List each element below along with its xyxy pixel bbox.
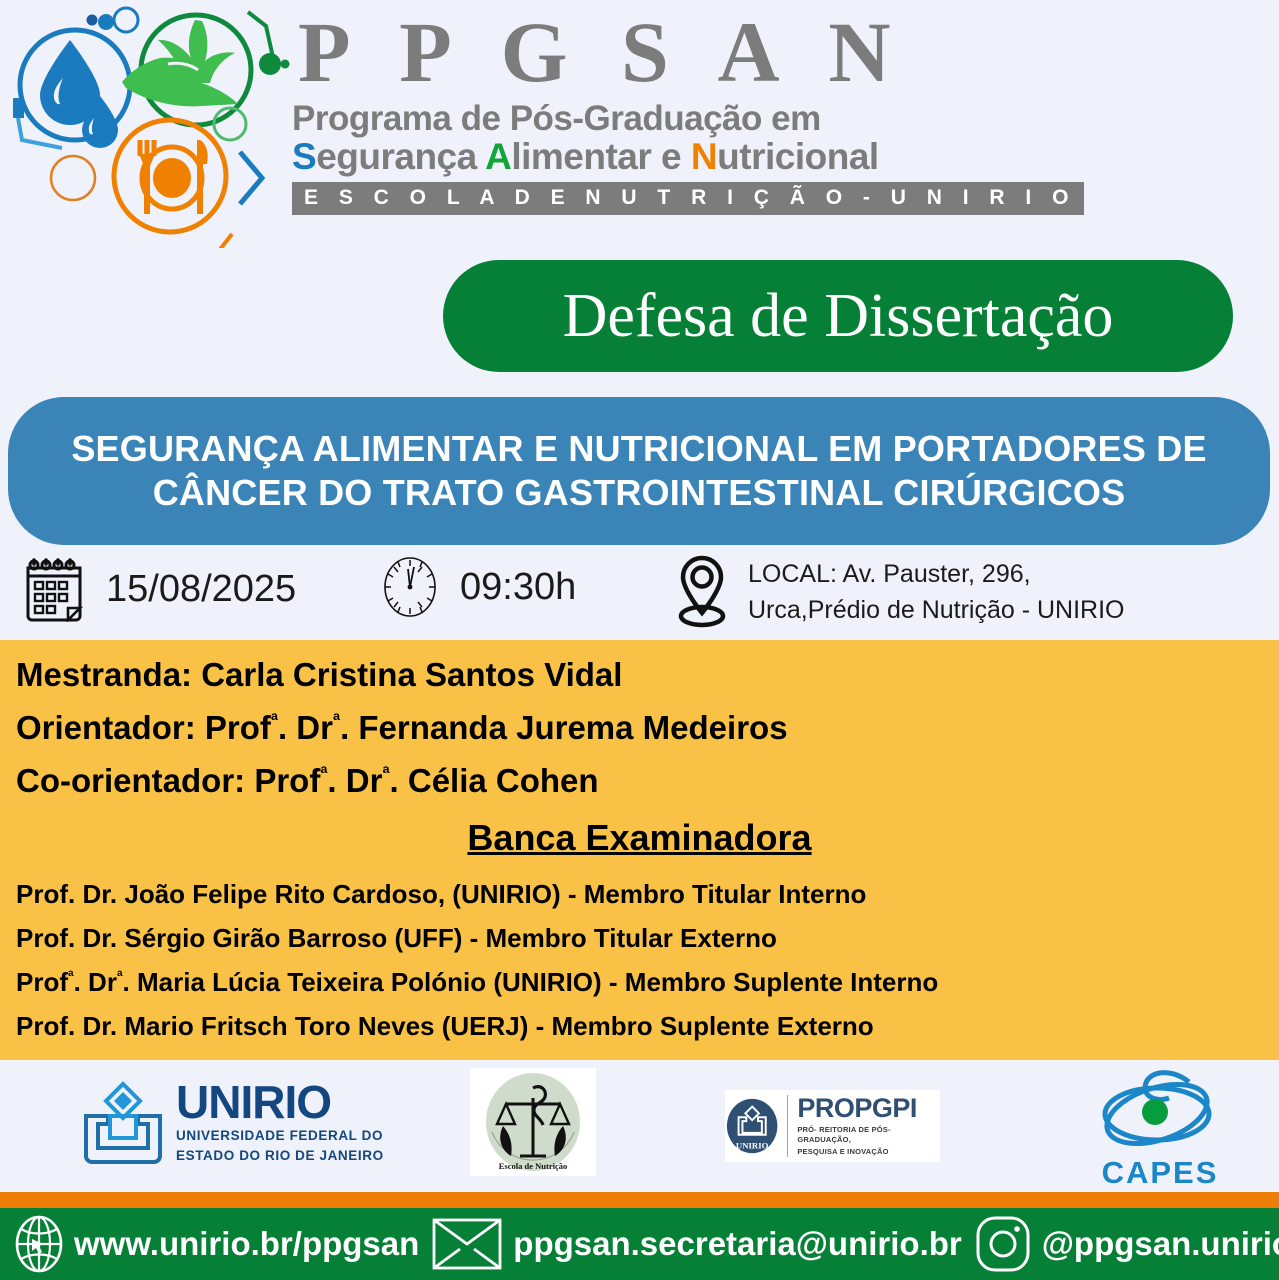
board-member-4: Prof. Dr. Mario Fritsch Toro Neves (UERJ… [0,1013,1279,1039]
logo-wordmark: P P G S A N Programa de Pós-Graduação em… [292,0,1084,215]
time-info: 09:30h [382,556,576,618]
board-member-3-mid: . Dr [74,967,117,997]
propgpi-name: PROPGPI [797,1095,940,1122]
board-member-3: Profª. Drª. Maria Lúcia Teixeira Polónio… [0,969,1279,995]
instagram-contact[interactable]: @ppgsan.unirio [974,1215,1279,1273]
propgpi-subtitle-2: PESQUISA E INOVAÇÃO [797,1147,940,1156]
propgpi-badge-text: UNIRIO [736,1140,769,1150]
program-subtitle: Programa de Pós-Graduação em [292,101,1084,138]
propgpi-logo: UNIRIO PROPGPI PRÓ- REITORIA DE PÓS-GRAD… [725,1090,940,1162]
capes-name: CAPES [1085,1155,1235,1191]
dissertation-title-banner: SEGURANÇA ALIMENTAR E NUTRICIONAL EM POR… [8,397,1270,545]
san-word-seguranca: egurança [316,136,485,177]
event-date: 15/08/2025 [106,568,296,611]
website-text: www.unirio.br/ppgsan [74,1225,419,1263]
board-member-2: Prof. Dr. Sérgio Girão Barroso (UFF) - M… [0,925,1279,951]
event-type-label: Defesa de Dissertação [563,285,1114,347]
envelope-icon [431,1216,503,1272]
coadvisor-sup-2: ª [382,764,389,785]
san-word-nutricional: utricional [717,136,879,177]
contact-footer: www.unirio.br/ppgsan ppgsan.secretaria@u… [0,1208,1279,1280]
title-line-2: CÂNCER DO TRATO GASTROINTESTINAL CIRÚRGI… [153,471,1126,515]
event-type-banner: Defesa de Dissertação [443,260,1233,372]
san-letter-n: N [691,136,717,177]
event-time: 09:30h [460,566,576,609]
logo-graphic [0,0,292,248]
coadvisor-mid: . Dr [327,762,382,799]
unirio-subtitle-2: ESTADO DO RIO DE JANEIRO [176,1148,384,1165]
sponsor-logo-strip: UNIRIO UNIVERSIDADE FEDERAL DO ESTADO DO… [0,1060,1279,1192]
calendar-icon [24,556,84,622]
propgpi-mark-icon: UNIRIO [725,1097,779,1155]
board-heading: Banca Examinadora [0,817,1279,859]
ppgsan-acronym: P P G S A N [298,6,1084,99]
unirio-mark-icon [80,1080,166,1166]
event-info-row: 15/08/2025 09:30h LOCAL: Av. Pauster, 29… [0,552,1279,640]
location-line-1: LOCAL: Av. Pauster, 296, [748,556,1125,592]
propgpi-wordmark: PROPGPI PRÓ- REITORIA DE PÓS-GRADUAÇÃO, … [787,1095,940,1156]
board-member-3-pre: Prof [16,967,68,997]
advisor-label: Orientador: Prof [16,709,271,746]
seal-text: Escola de Nutrição [499,1161,567,1171]
escola-nutricao-seal: Escola de Nutrição [470,1068,596,1176]
unirio-subtitle-1: UNIVERSIDADE FEDERAL DO [176,1128,384,1145]
escola-nutricao-seal-icon: Escola de Nutrição [470,1068,596,1176]
school-bar: E S C O L A D E N U T R I Ç Ã O - U N I … [292,182,1084,215]
map-pin-icon [672,552,732,632]
poster-root: P P G S A N Programa de Pós-Graduação em… [0,0,1279,1280]
student-line: Mestranda: Carla Cristina Santos Vidal [0,640,1279,691]
capes-mark-icon [1085,1066,1235,1154]
website-contact[interactable]: www.unirio.br/ppgsan [14,1215,431,1273]
title-line-1: SEGURANÇA ALIMENTAR E NUTRICIONAL EM POR… [71,427,1206,471]
instagram-text: @ppgsan.unirio [1042,1225,1279,1263]
san-subtitle: Segurança Alimentar e Nutricional [292,138,1084,177]
instagram-icon [974,1215,1032,1273]
globe-icon [14,1215,64,1273]
student-name: Carla Cristina Santos Vidal [201,656,622,693]
location-info: LOCAL: Av. Pauster, 296, Urca,Prédio de … [672,552,1125,632]
san-word-alimentar: limentar e [511,136,691,177]
coadvisor-name: . Célia Cohen [390,762,599,799]
advisor-name: . Fernanda Jurema Medeiros [340,709,787,746]
advisor-mid: . Dr [278,709,333,746]
poster-header: P P G S A N Programa de Pós-Graduação em… [0,0,1279,248]
student-label: Mestranda: [16,656,201,693]
capes-logo: CAPES [1085,1066,1235,1186]
unirio-wordmark: UNIRIO UNIVERSIDADE FEDERAL DO ESTADO DO… [176,1081,384,1164]
advisor-sup-1: ª [271,711,278,732]
email-contact[interactable]: ppgsan.secretaria@unirio.br [431,1216,973,1272]
board-member-3-post: . Maria Lúcia Teixeira Polónio (UNIRIO) … [123,967,939,997]
clock-icon [382,556,438,618]
propgpi-subtitle-1: PRÓ- REITORIA DE PÓS-GRADUAÇÃO, [797,1125,940,1144]
ppgsan-logo-mark [0,0,292,248]
location-text: LOCAL: Av. Pauster, 296, Urca,Prédio de … [748,556,1125,629]
participants-section: Mestranda: Carla Cristina Santos Vidal O… [0,640,1279,1060]
advisor-sup-2: ª [333,711,340,732]
advisor-line: Orientador: Profª. Drª. Fernanda Jurema … [0,711,1279,744]
board-member-1: Prof. Dr. João Felipe Rito Cardoso, (UNI… [0,881,1279,907]
location-line-2: Urca,Prédio de Nutrição - UNIRIO [748,592,1125,628]
san-letter-a: A [485,136,511,177]
coadvisor-label: Co-orientador: Prof [16,762,320,799]
coadvisor-line: Co-orientador: Profª. Drª. Célia Cohen [0,764,1279,797]
unirio-logo: UNIRIO UNIVERSIDADE FEDERAL DO ESTADO DO… [80,1080,384,1166]
date-info: 15/08/2025 [24,556,296,622]
unirio-name: UNIRIO [176,1081,384,1125]
san-letter-s: S [292,136,316,177]
orange-divider-bar [0,1192,1279,1208]
email-text: ppgsan.secretaria@unirio.br [513,1225,961,1263]
